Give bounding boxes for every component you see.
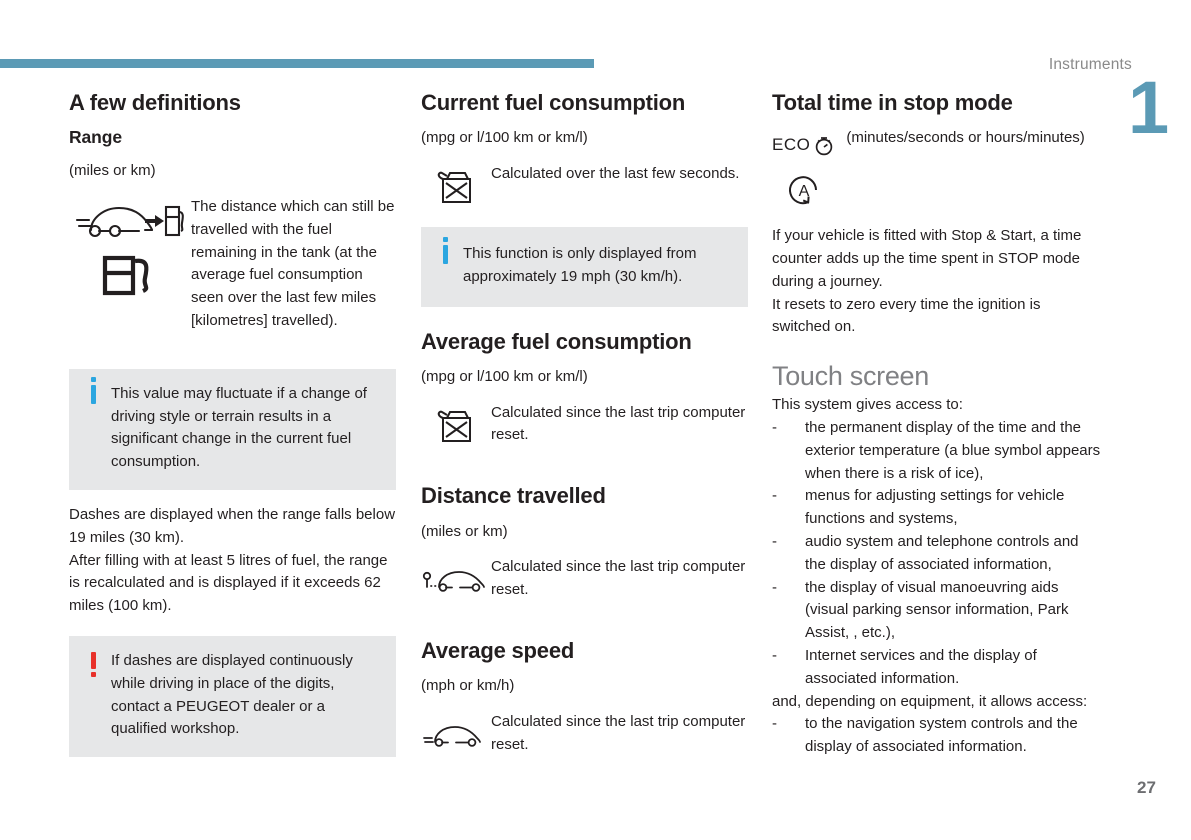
column-middle: Current fuel consumption (mpg or l/100 k…: [421, 90, 748, 771]
chapter-number-tab: 1: [1128, 78, 1167, 139]
range-info-text: This value may fluctuate if a change of …: [103, 383, 382, 474]
current-fuel-icon-row: Calculated over the last few seconds.: [421, 163, 748, 207]
info-icon: [435, 243, 455, 264]
range-warning-callout: If dashes are displayed continuously whi…: [69, 636, 396, 757]
list-item-text: the permanent display of the time and th…: [805, 419, 1100, 482]
page-title: A few definitions: [69, 90, 396, 115]
list-item: - the display of visual manoeuvring aids…: [772, 577, 1102, 645]
chapter-header-title: Instruments: [1049, 56, 1132, 74]
column-left: A few definitions Range (miles or km): [69, 90, 396, 757]
car-to-fuel-pump-icon: [75, 200, 185, 242]
car-speed-icon: [422, 723, 490, 751]
jerrycan-icon: [434, 406, 478, 446]
info-icon: [83, 383, 103, 404]
eco-label: ECO: [772, 135, 810, 155]
average-speed-unit: (mph or km/h): [421, 675, 748, 697]
heading-distance-travelled: Distance travelled: [421, 483, 748, 508]
average-fuel-icon-row: Calculated since the last trip computer …: [421, 402, 748, 448]
header-rule: [0, 59, 594, 68]
fuel-pump-icon: [100, 252, 160, 298]
range-icon-description-row: The distance which can still be travelle…: [69, 196, 396, 333]
range-info-callout: This value may fluctuate if a change of …: [69, 369, 396, 490]
range-unit: (miles or km): [69, 160, 396, 182]
flag-post-car-icon: [422, 568, 490, 596]
list-dash: -: [772, 713, 777, 736]
touch-screen-intro: This system gives access to:: [772, 394, 1102, 417]
average-fuel-description: Calculated since the last trip computer …: [491, 402, 748, 448]
range-paragraph: Dashes are displayed when the range fall…: [69, 504, 396, 618]
distance-travelled-unit: (miles or km): [421, 521, 748, 543]
range-description: The distance which can still be travelle…: [191, 196, 396, 333]
list-dash: -: [772, 485, 777, 508]
list-item: - the permanent display of the time and …: [772, 417, 1102, 485]
average-speed-description: Calculated since the last trip computer …: [491, 711, 748, 757]
list-item-text: the display of visual manoeuvring aids (…: [805, 579, 1068, 642]
manual-page: Instruments 1 27 A few definitions Range…: [0, 0, 1191, 840]
list-item: - audio system and telephone controls an…: [772, 531, 1102, 577]
eco-unit-row: ECO (minutes/seconds or hours/m: [772, 127, 1102, 157]
touch-screen-list: - the permanent display of the time and …: [772, 417, 1102, 691]
circled-a-stop-start-icon: A: [786, 171, 1102, 209]
touch-screen-closing-lead: and, depending on equipment, it allows a…: [772, 691, 1102, 714]
list-dash: -: [772, 645, 777, 668]
current-fuel-info-text: This function is only displayed from app…: [455, 243, 734, 289]
list-item-text: audio system and telephone controls and …: [805, 533, 1079, 573]
list-item-text: menus for adjusting settings for vehicle…: [805, 487, 1064, 527]
jerrycan-icon: [434, 167, 478, 207]
heading-current-fuel-consumption: Current fuel consumption: [421, 90, 748, 115]
stopwatch-icon: [812, 133, 836, 157]
range-warning-text: If dashes are displayed continuously whi…: [103, 650, 382, 741]
list-item: - to the navigation system controls and …: [772, 713, 1102, 759]
distance-travelled-icon-row: Calculated since the last trip computer …: [421, 556, 748, 602]
average-fuel-unit: (mpg or l/100 km or km/l): [421, 366, 748, 388]
heading-average-fuel-consumption: Average fuel consumption: [421, 329, 748, 354]
stop-mode-paragraph-2: It resets to zero every time the ignitio…: [772, 294, 1102, 340]
list-dash: -: [772, 417, 777, 440]
list-item-text: to the navigation system controls and th…: [805, 715, 1078, 755]
list-item: - menus for adjusting settings for vehic…: [772, 485, 1102, 531]
eco-indicator: ECO: [772, 127, 836, 157]
heading-total-time-stop-mode: Total time in stop mode: [772, 90, 1102, 115]
heading-range: Range: [69, 127, 396, 148]
stop-mode-paragraph-1: If your vehicle is fitted with Stop & St…: [772, 225, 1102, 293]
current-fuel-description: Calculated over the last few seconds.: [491, 163, 739, 186]
current-fuel-info-callout: This function is only displayed from app…: [421, 227, 748, 307]
heading-average-speed: Average speed: [421, 638, 748, 663]
list-dash: -: [772, 531, 777, 554]
touch-screen-closing-list: - to the navigation system controls and …: [772, 713, 1102, 759]
list-dash: -: [772, 577, 777, 600]
column-right: Total time in stop mode ECO: [772, 90, 1102, 759]
page-number: 27: [1137, 778, 1156, 798]
current-fuel-unit: (mpg or l/100 km or km/l): [421, 127, 748, 149]
list-item: - Internet services and the display of a…: [772, 645, 1102, 691]
heading-touch-screen: Touch screen: [772, 361, 1102, 392]
svg-text:A: A: [799, 183, 810, 200]
average-speed-icon-row: Calculated since the last trip computer …: [421, 711, 748, 757]
warning-icon: [83, 650, 103, 669]
distance-travelled-description: Calculated since the last trip computer …: [491, 556, 748, 602]
stop-mode-unit: (minutes/seconds or hours/minutes): [846, 127, 1084, 150]
list-item-text: Internet services and the display of ass…: [805, 647, 1037, 687]
